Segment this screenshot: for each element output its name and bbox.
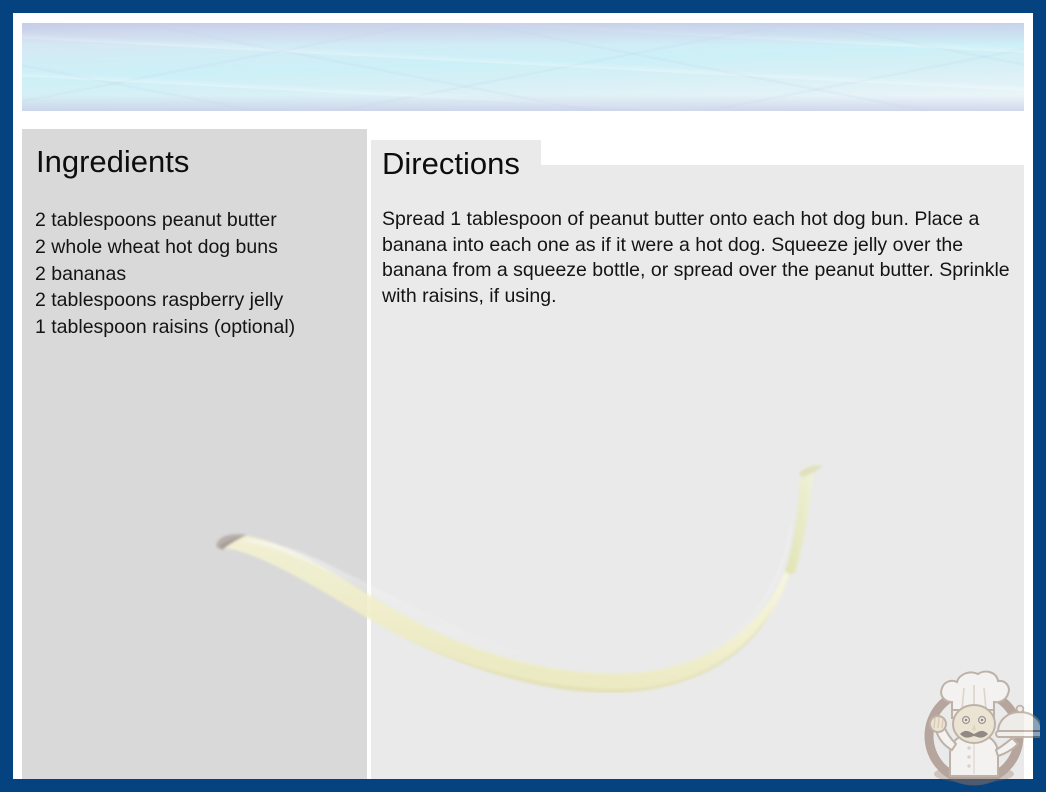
ingredients-heading: Ingredients <box>36 144 189 180</box>
header-banner <box>22 23 1024 111</box>
directions-body-text: Spread 1 tablespoon of peanut butter ont… <box>382 207 1032 309</box>
banner-bottom-shade <box>22 95 1024 111</box>
recipe-card-page: Banana Dogs Ingredients Directions 2 tab… <box>0 0 1046 792</box>
directions-heading: Directions <box>382 146 520 182</box>
list-item: 2 tablespoons raspberry jelly <box>35 287 355 314</box>
list-item: 2 bananas <box>35 261 355 288</box>
list-item: 1 tablespoon raisins (optional) <box>35 314 355 341</box>
recipe-sheet: Banana Dogs Ingredients Directions 2 tab… <box>13 13 1033 779</box>
list-item: 2 whole wheat hot dog buns <box>35 234 355 261</box>
banner-top-shade <box>22 23 1024 45</box>
list-item: 2 tablespoons peanut butter <box>35 207 355 234</box>
ingredients-list: 2 tablespoons peanut butter 2 whole whea… <box>35 207 355 341</box>
